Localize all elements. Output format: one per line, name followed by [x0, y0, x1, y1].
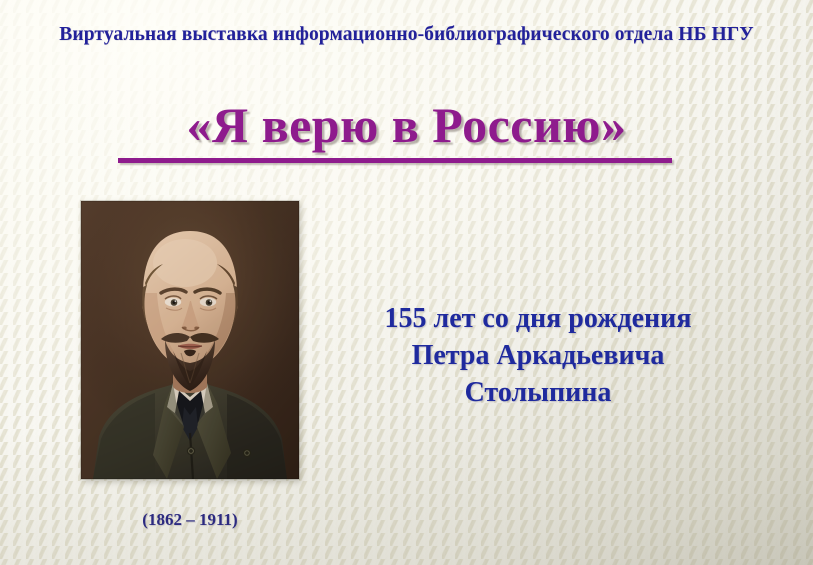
subject-line-1: 155 лет со дня рождения — [318, 300, 758, 337]
page-title: «Я верю в Россию» — [176, 99, 636, 156]
subject-caption: 155 лет со дня рождения Петра Аркадьевич… — [318, 300, 758, 412]
presentation-slide: Виртуальная выставка информационно-библи… — [0, 0, 813, 565]
portrait-photo — [81, 201, 299, 479]
title-underline-rule — [118, 158, 672, 163]
portrait-illustration — [81, 201, 299, 479]
subject-line-3: Столыпина — [318, 374, 758, 411]
exhibition-header: Виртуальная выставка информационно-библи… — [0, 24, 813, 46]
title-container: «Я верю в Россию» — [0, 99, 813, 156]
subject-line-2: Петра Аркадьевича — [318, 337, 758, 374]
life-dates-caption: (1862 – 1911) — [81, 510, 299, 530]
